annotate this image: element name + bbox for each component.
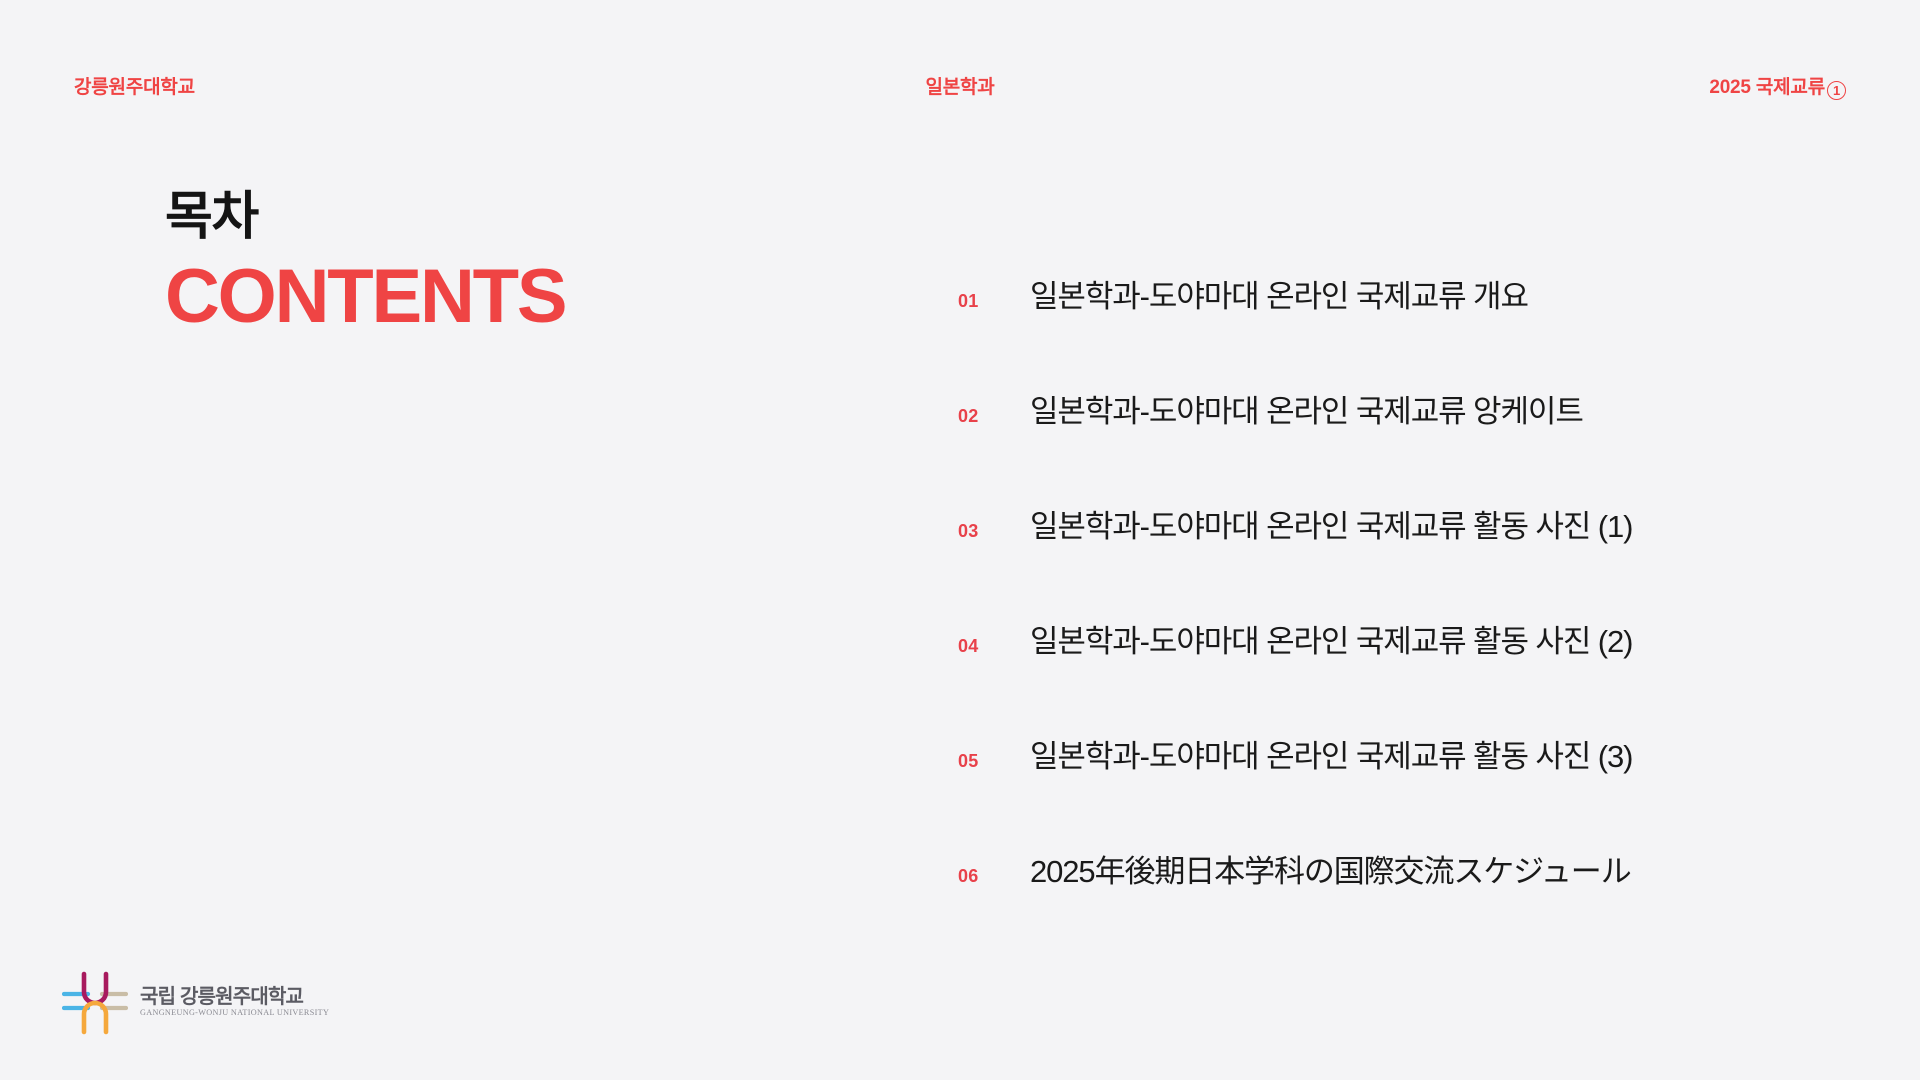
page-title-english: CONTENTS: [165, 259, 565, 335]
list-item-number: 03: [958, 522, 1030, 540]
list-item[interactable]: 05 일본학과-도야마대 온라인 국제교류 활동 사진 (3): [958, 738, 1778, 853]
logo-name-korean: 국립 강릉원주대학교: [140, 987, 329, 1007]
list-item-number: 01: [958, 292, 1030, 310]
list-item[interactable]: 02 일본학과-도야마대 온라인 국제교류 앙케이트: [958, 393, 1778, 508]
header-topic-label: 2025 국제교류: [1709, 77, 1825, 98]
list-item-number: 02: [958, 407, 1030, 425]
list-item-label: 일본학과-도야마대 온라인 국제교류 활동 사진 (2): [1030, 623, 1632, 660]
header-topic: 2025 국제교류1: [1709, 78, 1846, 100]
list-item-label: 일본학과-도야마대 온라인 국제교류 개요: [1030, 278, 1528, 315]
page-title: 목차 CONTENTS: [165, 190, 565, 335]
list-item-number: 06: [958, 867, 1030, 885]
contents-list: 01 일본학과-도야마대 온라인 국제교류 개요 02 일본학과-도야마대 온라…: [958, 278, 1778, 968]
list-item-label: 2025年後期日本学科の国際交流スケジュール: [1030, 853, 1631, 890]
header-department-name: 일본학과: [925, 78, 994, 97]
circled-number-badge: 1: [1827, 81, 1846, 100]
list-item-label: 일본학과-도야마대 온라인 국제교류 활동 사진 (1): [1030, 508, 1632, 545]
list-item-number: 04: [958, 637, 1030, 655]
list-item-number: 05: [958, 752, 1030, 770]
university-logo: 국립 강릉원주대학교 GANGNEUNG-WONJU NATIONAL UNIV…: [62, 966, 329, 1038]
list-item[interactable]: 04 일본학과-도야마대 온라인 국제교류 활동 사진 (2): [958, 623, 1778, 738]
logo-name-english: GANGNEUNG-WONJU NATIONAL UNIVERSITY: [140, 1009, 329, 1017]
slide-header: 강릉원주대학교 일본학과 2025 국제교류1: [0, 0, 1920, 112]
list-item-label: 일본학과-도야마대 온라인 국제교류 활동 사진 (3): [1030, 738, 1632, 775]
list-item[interactable]: 03 일본학과-도야마대 온라인 국제교류 활동 사진 (1): [958, 508, 1778, 623]
list-item-label: 일본학과-도야마대 온라인 국제교류 앙케이트: [1030, 393, 1583, 430]
logo-wordmark: 국립 강릉원주대학교 GANGNEUNG-WONJU NATIONAL UNIV…: [140, 987, 329, 1017]
page-title-korean: 목차: [165, 190, 565, 245]
header-university-name: 강릉원주대학교: [74, 78, 195, 97]
slide-canvas: 강릉원주대학교 일본학과 2025 국제교류1 목차 CONTENTS 01 일…: [0, 0, 1920, 1080]
list-item[interactable]: 06 2025年後期日本学科の国際交流スケジュール: [958, 853, 1778, 968]
university-emblem-icon: [62, 966, 128, 1038]
list-item[interactable]: 01 일본학과-도야마대 온라인 국제교류 개요: [958, 278, 1778, 393]
